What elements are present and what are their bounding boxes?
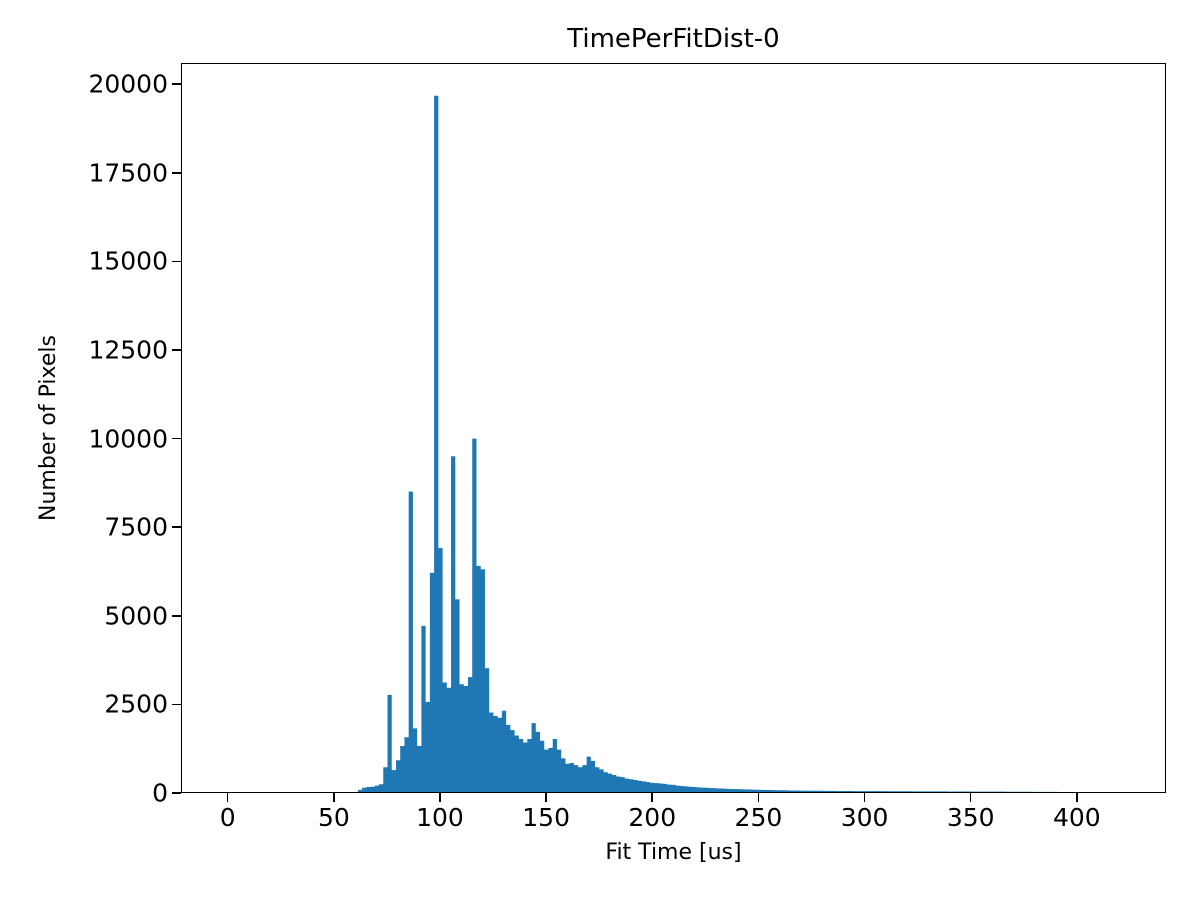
x-tick-label: 100 bbox=[416, 805, 464, 830]
y-tick-mark bbox=[172, 261, 181, 263]
y-tick-mark bbox=[172, 172, 181, 174]
x-tick-label: 200 bbox=[628, 805, 676, 830]
x-tick-label: 0 bbox=[220, 805, 236, 830]
x-tick-label: 400 bbox=[1053, 805, 1101, 830]
x-tick-mark bbox=[1076, 793, 1078, 802]
y-tick-label: 7500 bbox=[104, 515, 168, 540]
y-tick-mark bbox=[172, 526, 181, 528]
y-tick-label: 20000 bbox=[88, 72, 168, 97]
x-tick-mark bbox=[758, 793, 760, 802]
y-tick-label: 0 bbox=[152, 781, 168, 806]
histogram-bar-series bbox=[358, 96, 1057, 792]
x-tick-mark bbox=[545, 793, 547, 802]
x-tick-mark bbox=[970, 793, 972, 802]
y-axis-tick-labels: 02500500075001000012500150001750020000 bbox=[0, 0, 168, 900]
x-tick-mark bbox=[227, 793, 229, 802]
histogram-bars bbox=[182, 64, 1165, 792]
y-tick-mark bbox=[172, 704, 181, 706]
y-tick-label: 10000 bbox=[88, 426, 168, 451]
x-axis-label: Fit Time [us] bbox=[181, 840, 1166, 865]
y-tick-mark bbox=[172, 83, 181, 85]
x-tick-label: 250 bbox=[735, 805, 783, 830]
y-tick-label: 12500 bbox=[88, 338, 168, 363]
y-tick-mark bbox=[172, 349, 181, 351]
chart-title: TimePerFitDist-0 bbox=[181, 24, 1166, 54]
chart-figure: TimePerFitDist-0 02500500075001000012500… bbox=[0, 0, 1200, 900]
x-tick-mark bbox=[439, 793, 441, 802]
x-tick-mark bbox=[651, 793, 653, 802]
y-tick-mark bbox=[172, 792, 181, 794]
y-tick-label: 17500 bbox=[88, 160, 168, 185]
y-tick-label: 15000 bbox=[88, 249, 168, 274]
y-tick-label: 5000 bbox=[104, 603, 168, 628]
x-tick-mark bbox=[333, 793, 335, 802]
x-tick-label: 50 bbox=[318, 805, 350, 830]
y-tick-mark bbox=[172, 438, 181, 440]
y-tick-mark bbox=[172, 615, 181, 617]
x-tick-label: 300 bbox=[841, 805, 889, 830]
x-tick-label: 350 bbox=[947, 805, 995, 830]
x-tick-mark bbox=[864, 793, 866, 802]
x-tick-label: 150 bbox=[522, 805, 570, 830]
y-axis-label: Number of Pixels bbox=[34, 63, 64, 793]
y-tick-label: 2500 bbox=[104, 692, 168, 717]
plot-area bbox=[181, 63, 1166, 793]
